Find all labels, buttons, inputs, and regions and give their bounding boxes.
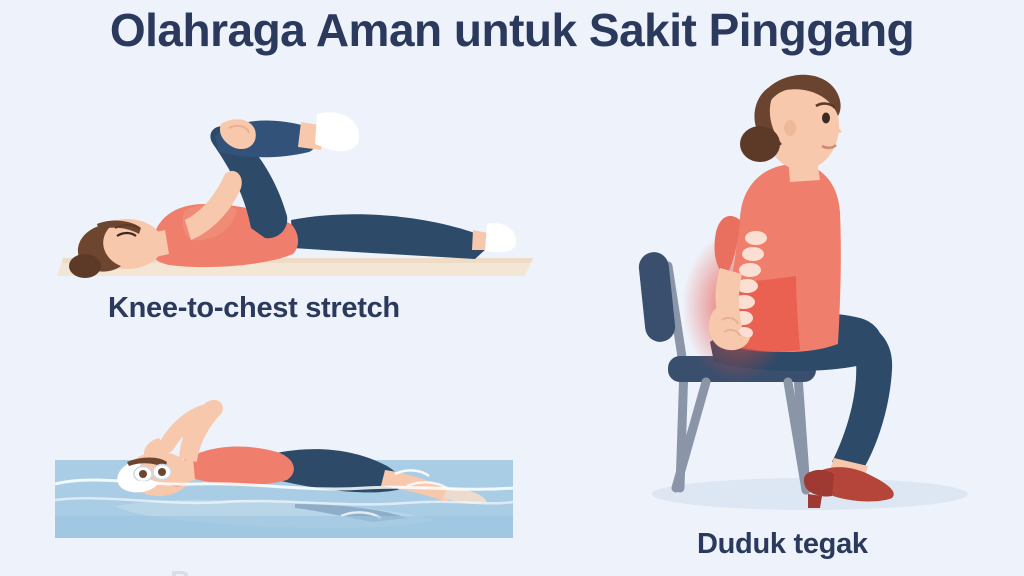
swim-neck-shape bbox=[179, 458, 195, 484]
page-title: Olahraga Aman untuk Sakit Pinggang bbox=[0, 2, 1024, 58]
caption-sit-upright: Duduk tegak bbox=[697, 528, 868, 561]
caption-knee-to-chest: Knee-to-chest stretch bbox=[108, 292, 400, 325]
water-deep-band-shape bbox=[55, 516, 513, 538]
sit-hair-bun-shape bbox=[740, 126, 780, 162]
shoe-heel-shape bbox=[808, 494, 822, 508]
illustration-sit-upright bbox=[610, 70, 1010, 520]
straight-leg-shape bbox=[291, 214, 487, 259]
shoe-right-shape bbox=[485, 223, 516, 252]
illustration-knee-to-chest bbox=[55, 100, 555, 285]
swim-eye-left bbox=[139, 470, 147, 478]
hair-bun-shape bbox=[69, 254, 101, 278]
illustration-swimming bbox=[55, 400, 555, 565]
infographic-canvas: Olahraga Aman untuk Sakit Pinggang bbox=[0, 0, 1024, 576]
caption-swimming: Berenang bbox=[170, 566, 301, 576]
swim-eye-right bbox=[158, 468, 166, 476]
sit-eye-shape bbox=[822, 113, 830, 124]
shoe-left-shape bbox=[315, 112, 359, 151]
sit-ear-shape bbox=[784, 120, 796, 136]
